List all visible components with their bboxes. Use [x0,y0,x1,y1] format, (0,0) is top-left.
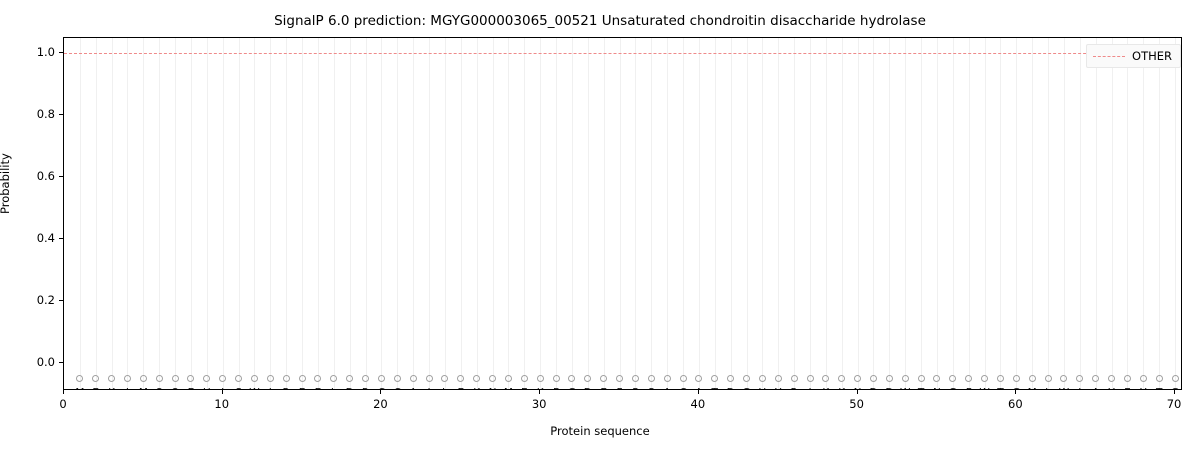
sequence-residue-label: D [885,388,893,390]
sequence-residue-label: D [584,388,592,390]
residue-marker [711,375,718,382]
sequence-residue-label: K [537,388,544,390]
residue-marker [1172,375,1179,382]
y-tick-mark [59,176,63,177]
y-tick-label: 0.2 [19,293,55,307]
sequence-residue-label: T [1156,388,1162,390]
residue-marker [791,375,798,382]
residue-marker [854,375,861,382]
residue-marker [775,375,782,382]
residue-marker [743,375,750,382]
sequence-residue-label: I [808,388,811,390]
legend-line-other-icon [1093,56,1125,57]
residue-marker [441,375,448,382]
residue-marker [949,375,956,382]
sequence-residue-label: E [188,388,195,390]
residue-marker [997,375,1004,382]
sequence-residue-label: R [283,388,290,390]
residue-marker [378,375,385,382]
series-line-other [64,53,1181,54]
residue-marker [838,375,845,382]
sequence-residue-label: W [249,388,259,390]
sequence-residue-label: N [933,388,941,390]
residue-marker [965,375,972,382]
residue-marker [902,375,909,382]
sequence-residue-label: G [1012,388,1020,390]
chart-title: SignalP 6.0 prediction: MGYG000003065_00… [0,13,1200,29]
residue-marker [521,375,528,382]
residue-marker [108,375,115,382]
residue-marker [727,375,734,382]
sequence-residue-label: C [378,388,385,390]
residue-marker [219,375,226,382]
y-tick-label: 0.8 [19,107,55,121]
residue-marker [267,375,274,382]
sequence-residue-label: T [918,388,924,390]
residue-marker [1156,375,1163,382]
sequence-residue-label: K [822,388,829,390]
sequence-residue-label: W [979,388,989,390]
sequence-residue-label: H [203,388,211,390]
sequence-residue-label: A [410,388,417,390]
sequence-residue-label: E [521,388,528,390]
sequence-residue-label: L [1045,388,1051,390]
sequence-residue-label: I [269,388,272,390]
residue-marker [299,375,306,382]
x-tick-mark [222,390,223,394]
sequence-residue-label: M [75,388,84,390]
residue-marker [410,375,417,382]
x-tick-mark [1015,390,1016,394]
signalp-prediction-figure: SignalP 6.0 prediction: MGYG000003065_00… [0,0,1200,450]
residue-marker [394,375,401,382]
sequence-residue-label: Y [775,388,781,390]
sequence-residue-label: C [394,388,401,390]
sequence-residue-label: D [346,388,354,390]
residue-marker [1045,375,1052,382]
sequence-residue-label: H [758,388,766,390]
sequence-residue-label: E [315,388,322,390]
y-axis-label: Probability [0,153,12,214]
residue-marker [203,375,210,382]
residue-marker [759,375,766,382]
sequence-residue-label: I [427,388,430,390]
sequence-residue-label: K [473,388,480,390]
residue-marker [156,375,163,382]
residue-marker [553,375,560,382]
residue-marker [822,375,829,382]
residue-marker [1029,375,1036,382]
residue-marker [918,375,925,382]
residue-marker [140,375,147,382]
sequence-residue-label: A [695,388,702,390]
y-tick-mark [59,52,63,53]
sequence-residue-label: S [648,388,655,390]
sequence-residue-label: E [92,388,99,390]
residue-marker [172,375,179,382]
sequence-residue-label: Q [155,388,163,390]
x-tick-mark [698,390,699,394]
sequence-residue-label: L [331,388,337,390]
y-tick-label: 0.4 [19,231,55,245]
residue-marker [1060,375,1067,382]
sequence-residue-label: E [1124,388,1131,390]
sequence-residue-label: M [504,388,513,390]
sequence-residue-label: Y [1108,388,1114,390]
sequence-residue-label: N [854,388,862,390]
residue-marker [933,375,940,382]
residue-marker [489,375,496,382]
residue-marker [92,375,99,382]
residue-marker [648,375,655,382]
sequence-residue-label: I [1078,388,1081,390]
residue-marker [124,375,131,382]
x-tick-mark [380,390,381,394]
x-tick-mark [539,390,540,394]
x-tick-label: 60 [1008,397,1023,411]
sequence-residue-label: F [966,388,972,390]
residue-marker [600,375,607,382]
x-tick-label: 30 [532,397,547,411]
residue-marker [886,375,893,382]
sequence-residue-label: T [712,388,718,390]
residue-marker [457,375,464,382]
residue-marker [330,375,337,382]
x-tick-label: 0 [59,397,66,411]
sequence-residue-label: K [838,388,845,390]
residue-marker [680,375,687,382]
x-tick-mark [1174,390,1175,394]
residue-marker [981,375,988,382]
sequence-residue-label: D [869,388,877,390]
residue-marker [235,375,242,382]
residue-marker [584,375,591,382]
residue-marker [473,375,480,382]
residue-marker [695,375,702,382]
sequence-residue-label: S [235,388,242,390]
residue-marker [537,375,544,382]
sequence-residue-label: R [362,388,369,390]
y-tick-mark [59,300,63,301]
y-tick-mark [59,362,63,363]
y-tick-label: 0.6 [19,169,55,183]
residue-marker [505,375,512,382]
residue-marker [251,375,258,382]
y-tick-label: 0.0 [19,355,55,369]
residue-marker [1092,375,1099,382]
sequence-residue-label: Q [171,388,179,390]
residue-marker [1140,375,1147,382]
x-tick-mark [857,390,858,394]
residue-marker [314,375,321,382]
residue-marker [426,375,433,382]
legend-label-other: OTHER [1132,49,1172,63]
x-tick-label: 50 [849,397,864,411]
x-tick-label: 20 [373,397,388,411]
sequence-residue-label: T [997,388,1003,390]
residue-marker [1076,375,1083,382]
residue-marker [1124,375,1131,382]
residue-marker [346,375,353,382]
residue-marker [76,375,83,382]
sequence-residue-label: W [900,388,910,390]
sequence-residue-label: E [299,388,306,390]
residue-marker [1013,375,1020,382]
sequence-residue-label: K [108,388,115,390]
x-axis-label: Protein sequence [0,424,1200,438]
sequence-residue-label: A [664,388,671,390]
sequence-residue-label: G [568,388,576,390]
sequence-residue-label: F [616,388,622,390]
sequence-residue-label: P [632,388,638,390]
sequence-residue-label: R [790,388,797,390]
sequence-residue-label: Y [1140,388,1146,390]
sequence-residue-label: W [1059,388,1069,390]
x-tick-mark [63,390,64,394]
x-tick-label: 10 [214,397,229,411]
sequence-residue-label: E [600,388,607,390]
residue-marker [187,375,194,382]
residue-marker [1108,375,1115,382]
sequence-residue-label: E [457,388,464,390]
y-tick-label: 1.0 [19,45,55,59]
residue-marker [870,375,877,382]
sequence-residue-label: D [727,388,735,390]
x-tick-label: 40 [691,397,706,411]
sequence-residue-label: N [489,388,497,390]
y-tick-mark [59,114,63,115]
residue-marker [362,375,369,382]
legend[interactable]: OTHER [1086,44,1181,68]
sequence-residue-label: A [1092,388,1099,390]
residue-marker [616,375,623,382]
sequence-residue-label: L [442,388,448,390]
sequence-residue-label: M [139,388,148,390]
sequence-residue-label: I [126,388,129,390]
sequence-residue-label: G [949,388,957,390]
sequence-residue-label: M [1028,388,1037,390]
residue-marker [807,375,814,382]
sequence-residue-label: G [1171,388,1179,390]
residue-marker [664,375,671,382]
data-layer: MEKIMQQEHISWIREELDRCCAILEKNMEKFGDEFPSACA… [64,38,1181,389]
sequence-residue-label: C [679,388,686,390]
y-tick-mark [59,238,63,239]
x-tick-label: 70 [1167,397,1182,411]
plot-area: MEKIMQQEHISWIREELDRCCAILEKNMEKFGDEFPSACA… [63,37,1182,390]
sequence-residue-label: G [742,388,750,390]
residue-marker [632,375,639,382]
sequence-residue-label: F [553,388,559,390]
residue-marker [283,375,290,382]
residue-marker [568,375,575,382]
